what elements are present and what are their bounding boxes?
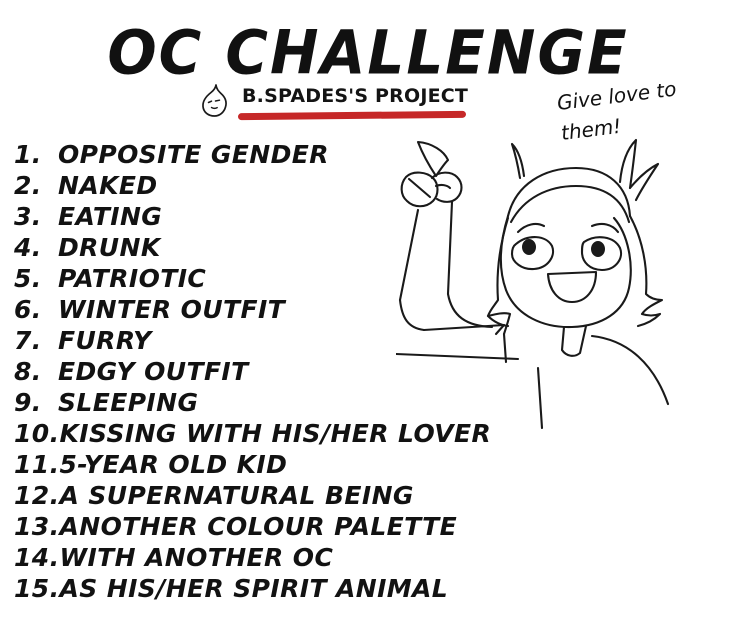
list-item: 3. EATING bbox=[14, 201, 554, 232]
list-item-label: A SUPERNATURAL BEING bbox=[60, 480, 414, 511]
list-item-number: 5. bbox=[14, 263, 58, 294]
list-item: 14. WITH ANOTHER OC bbox=[14, 542, 554, 573]
list-item: 2. NAKED bbox=[14, 170, 554, 201]
list-item: 1. OPPOSITE GENDER bbox=[14, 139, 554, 170]
oc-challenge-image: OC CHALLENGE B.SPADES'S PROJECT Give lov… bbox=[0, 0, 736, 642]
list-item: 13. ANOTHER COLOUR PALETTE bbox=[14, 511, 554, 542]
list-item-label: ANOTHER COLOUR PALETTE bbox=[60, 511, 458, 542]
list-item-number: 1. bbox=[14, 139, 58, 170]
list-item-label: NAKED bbox=[58, 170, 157, 201]
list-item-label: DRUNK bbox=[58, 232, 161, 263]
list-item-number: 13. bbox=[14, 511, 60, 542]
list-item-number: 12. bbox=[14, 480, 60, 511]
list-item: 15. AS HIS/HER SPIRIT ANIMAL bbox=[14, 573, 554, 604]
hair-spike-right-b bbox=[630, 164, 658, 200]
note-line-1: Give love to bbox=[556, 84, 678, 115]
red-underline bbox=[238, 111, 466, 120]
list-item-label: EATING bbox=[58, 201, 162, 232]
list-item: 7. FURRY bbox=[14, 325, 554, 356]
list-item: 5. PATRIOTIC bbox=[14, 263, 554, 294]
eyebrow-right bbox=[592, 224, 618, 232]
list-item-number: 14. bbox=[14, 542, 60, 573]
list-item: 6. WINTER OUTFIT bbox=[14, 294, 554, 325]
list-item-label: WITH ANOTHER OC bbox=[60, 542, 334, 573]
list-item-number: 10. bbox=[14, 418, 60, 449]
onion-blob-mascot-icon bbox=[196, 82, 236, 122]
list-item-number: 11. bbox=[14, 449, 60, 480]
list-item: 9. SLEEPING bbox=[14, 387, 554, 418]
list-item-label: WINTER OUTFIT bbox=[58, 294, 285, 325]
list-item: 8. EDGY OUTFIT bbox=[14, 356, 554, 387]
list-item-label: OPPOSITE GENDER bbox=[58, 139, 329, 170]
credit-row: B.SPADES'S PROJECT bbox=[196, 86, 468, 120]
list-item-label: SLEEPING bbox=[58, 387, 198, 418]
mouth bbox=[548, 272, 596, 302]
list-item: 10. KISSING WITH HIS/HER LOVER bbox=[14, 418, 554, 449]
hair-right bbox=[630, 216, 662, 326]
list-item-number: 8. bbox=[14, 356, 58, 387]
list-item-label: 5-YEAR OLD KID bbox=[60, 449, 288, 480]
hair-spike-right-a bbox=[620, 140, 636, 188]
list-item-number: 3. bbox=[14, 201, 58, 232]
shoulder-right bbox=[592, 336, 668, 404]
list-item-number: 15. bbox=[14, 573, 60, 604]
list-item-number: 7. bbox=[14, 325, 58, 356]
list-item-label: KISSING WITH HIS/HER LOVER bbox=[60, 418, 492, 449]
list-item-number: 2. bbox=[14, 170, 58, 201]
list-item-label: EDGY OUTFIT bbox=[58, 356, 249, 387]
list-item-number: 9. bbox=[14, 387, 58, 418]
eye-right bbox=[582, 237, 621, 270]
list-item: 11. 5-YEAR OLD KID bbox=[14, 449, 554, 480]
list-item-label: FURRY bbox=[58, 325, 152, 356]
pupil-right bbox=[591, 241, 605, 257]
neck bbox=[562, 326, 586, 356]
note-line-2: them! bbox=[560, 114, 623, 145]
list-item-number: 6. bbox=[14, 294, 58, 325]
page-title: OC CHALLENGE bbox=[0, 22, 736, 83]
list-item-label: PATRIOTIC bbox=[58, 263, 206, 294]
list-item-number: 4. bbox=[14, 232, 58, 263]
credit-text-block: B.SPADES'S PROJECT bbox=[242, 86, 468, 106]
handwritten-note: Give love to them! bbox=[552, 84, 728, 150]
list-item: 12. A SUPERNATURAL BEING bbox=[14, 480, 554, 511]
list-item: 4. DRUNK bbox=[14, 232, 554, 263]
list-item-label: AS HIS/HER SPIRIT ANIMAL bbox=[60, 573, 449, 604]
challenge-list: 1. OPPOSITE GENDER 2. NAKED 3. EATING 4.… bbox=[14, 139, 554, 604]
project-credit: B.SPADES'S PROJECT bbox=[242, 87, 468, 106]
